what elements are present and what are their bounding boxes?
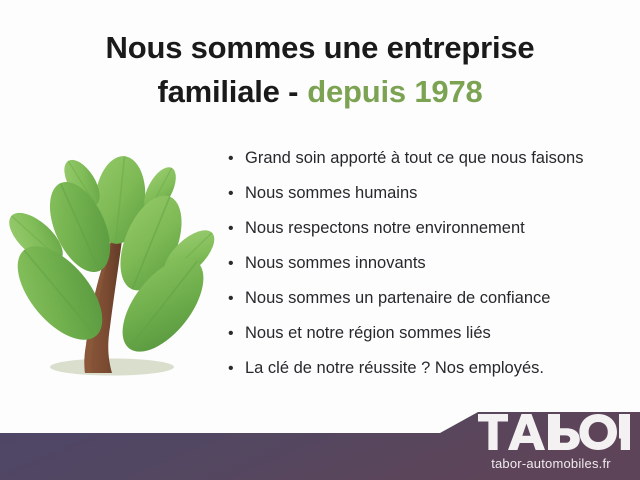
bullet-icon: •	[228, 326, 245, 342]
bullet-icon: •	[228, 291, 245, 307]
headline-line-1: Nous sommes une entreprise	[106, 30, 535, 65]
list-item: • Grand soin apporté à tout ce que nous …	[228, 150, 628, 185]
list-item: • Nous sommes innovants	[228, 255, 628, 290]
list-item: • Nous sommes un partenaire de confiance	[228, 290, 628, 325]
bullet-icon: •	[228, 221, 245, 237]
list-item-label: Nous sommes innovants	[245, 255, 426, 272]
list-item: • Nous et notre région sommes liés	[228, 325, 628, 360]
bullet-icon: •	[228, 186, 245, 202]
list-item: • Nous sommes humains	[228, 185, 628, 220]
value-bullet-list: • Grand soin apporté à tout ce que nous …	[228, 150, 628, 395]
bullet-icon: •	[228, 151, 245, 167]
headline-highlight-since-1978: depuis 1978	[307, 74, 482, 109]
list-item-label: Nous sommes humains	[245, 185, 417, 202]
list-item: • Nous respectons notre environnement	[228, 220, 628, 255]
brand-url-label: tabor-automobiles.fr	[470, 456, 632, 471]
brand-logo[interactable]: tabor-automobiles.fr	[470, 414, 640, 476]
tabor-wordmark	[478, 414, 630, 456]
list-item-label: La clé de notre réussite ? Nos employés.	[245, 360, 544, 377]
list-item-label: Nous sommes un partenaire de confiance	[245, 290, 550, 307]
slide-canvas: Nous sommes une entreprise familiale -de…	[0, 0, 640, 480]
list-item-label: Grand soin apporté à tout ce que nous fa…	[245, 150, 583, 167]
tree-illustration	[8, 145, 218, 390]
headline-line-2: familiale -depuis 1978	[0, 70, 640, 114]
page-title: Nous sommes une entreprise familiale -de…	[0, 26, 640, 114]
list-item-label: Nous et notre région sommes liés	[245, 325, 491, 342]
headline-line-2-black: familiale -	[157, 74, 298, 109]
list-item: • La clé de notre réussite ? Nos employé…	[228, 360, 628, 395]
list-item-label: Nous respectons notre environnement	[245, 220, 525, 237]
tree-ground-shadow	[50, 359, 174, 376]
bullet-icon: •	[228, 256, 245, 272]
bullet-icon: •	[228, 361, 245, 377]
